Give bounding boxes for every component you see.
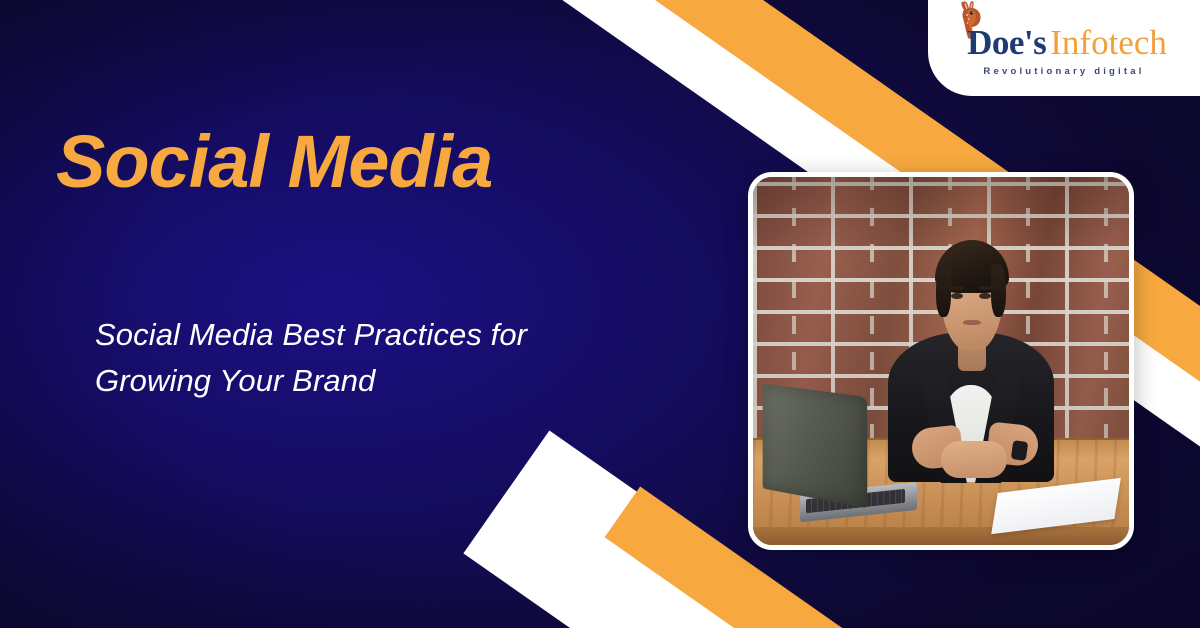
hero-photo-card [748,172,1134,550]
laptop [761,390,911,515]
logo-tagline: Revolutionary digital [983,66,1144,77]
hair-side-left [936,264,951,317]
eyebrow-left [950,286,965,290]
mouth [963,320,981,325]
clasped-hands [941,441,1007,477]
logo-wordmark: Doe's Infotech [961,20,1167,60]
hero-photo [753,177,1129,545]
logo-name-primary: Doe's [965,25,1046,60]
page-subtitle: Social Media Best Practices for Growing … [95,312,595,404]
desk-edge [753,527,1129,545]
social-media-banner: Doe's Infotech Revolutionary digital Soc… [0,0,1200,628]
laptop-lid [762,384,867,508]
person-figure [888,240,1053,483]
hair-side-right [991,264,1006,317]
eyebrow-right [978,286,993,290]
logo-badge[interactable]: Doe's Infotech Revolutionary digital [928,0,1200,96]
logo-name-secondary: Infotech [1046,25,1167,60]
page-title: Social Media [56,123,492,201]
